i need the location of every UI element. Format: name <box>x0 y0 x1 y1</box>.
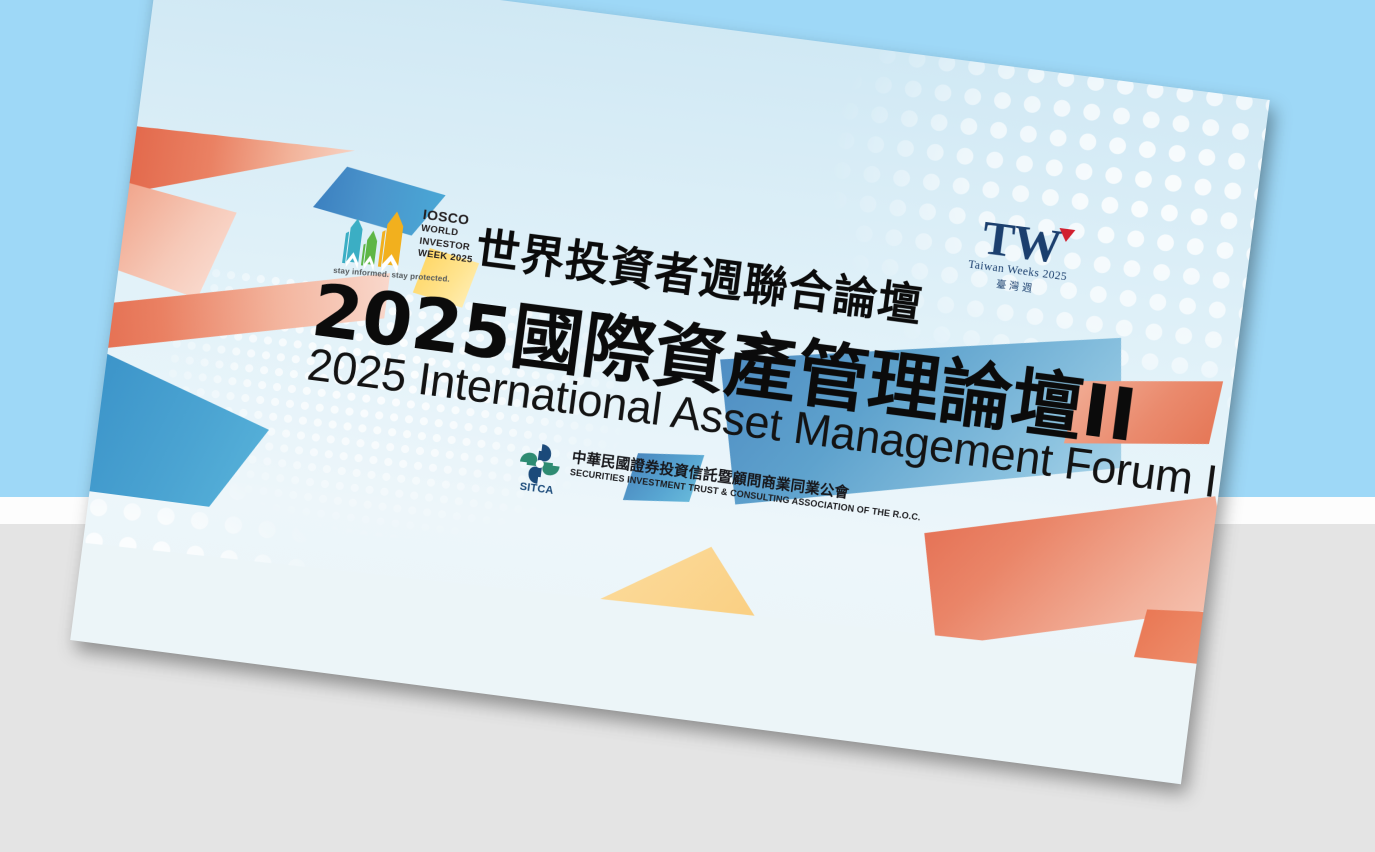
tw-monogram-text: TW <box>979 211 1063 274</box>
tw-monogram: TW <box>980 216 1063 269</box>
taiwan-weeks-logo: TW Taiwan Weeks 2025 臺灣週 <box>958 214 1080 310</box>
red-triangle-icon <box>1058 228 1076 243</box>
